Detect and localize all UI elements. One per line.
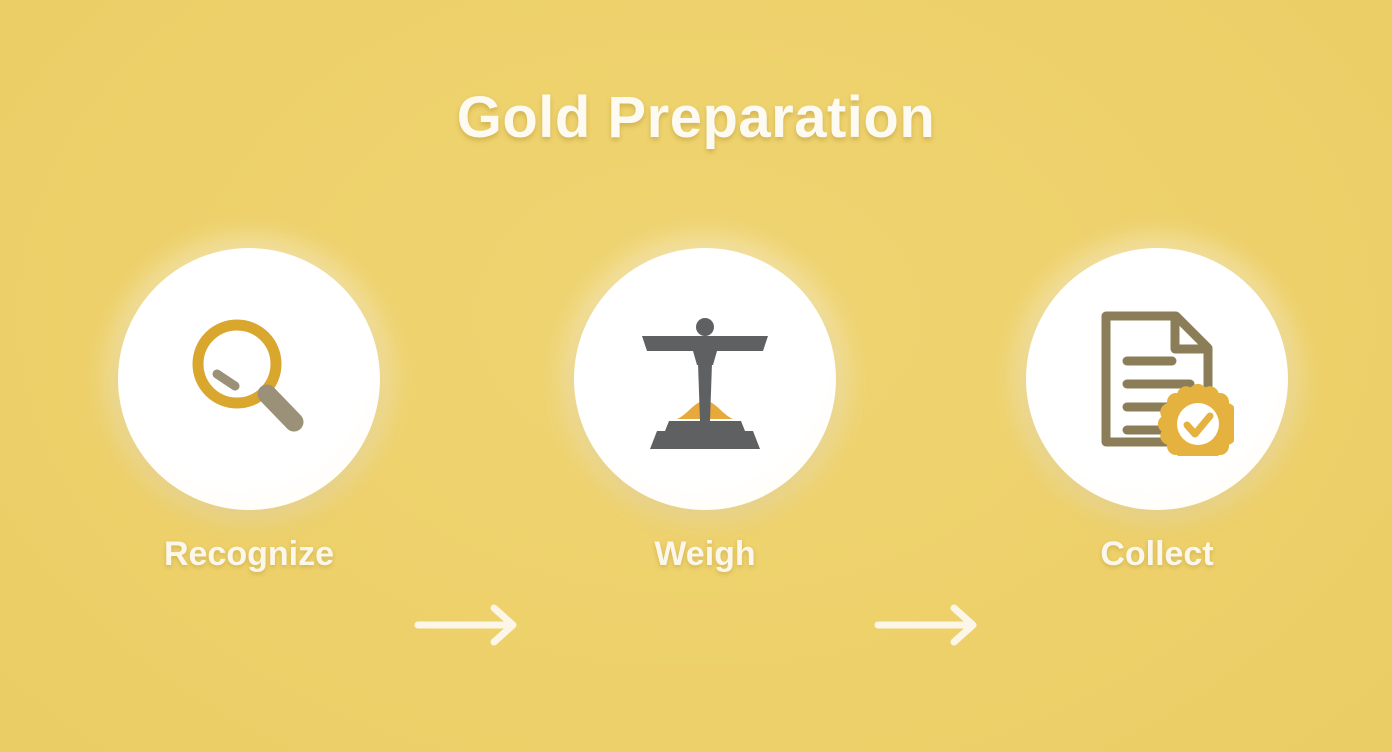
icon-circle-recognize — [118, 248, 380, 510]
icon-circle-collect — [1026, 248, 1288, 510]
verified-document-icon — [1080, 302, 1234, 456]
flow-step-label-collect: Collect — [1026, 535, 1288, 574]
infographic-canvas: Gold Preparation — [0, 0, 1392, 752]
flow-step-collect[interactable] — [1026, 248, 1288, 510]
process-flow — [0, 248, 1392, 510]
arrow-right-icon-2 — [872, 603, 992, 647]
flow-step-label-weigh: Weigh — [574, 535, 836, 574]
balance-scale-icon — [629, 303, 781, 455]
page-title: Gold Preparation — [0, 84, 1392, 151]
icon-circle-weigh — [574, 248, 836, 510]
magnifier-icon — [174, 304, 324, 454]
flow-step-recognize[interactable] — [118, 248, 380, 510]
arrow-right-icon-1 — [412, 603, 532, 647]
flow-step-label-recognize: Recognize — [118, 535, 380, 574]
flow-step-weigh[interactable] — [574, 248, 836, 510]
